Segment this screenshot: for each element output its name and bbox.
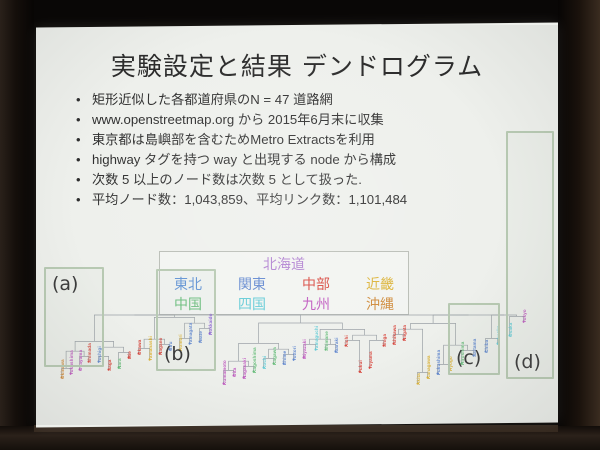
dendrogram-leaf: Shiga (382, 334, 387, 347)
bullet-text: www.openstreetmap.org から 2015年6月末に収集 (92, 111, 526, 129)
dendrogram-group-label-a: (a) (52, 273, 78, 295)
dendrogram-leaf: Nagasaki (242, 358, 247, 379)
bullet-list: • 矩形近似した各都道府県のN = 47 道路網 • www.openstree… (76, 91, 526, 211)
legend-item-hokkaido: 北海道 (261, 255, 307, 275)
legend-item-shikoku: 四国 (229, 295, 275, 315)
bullet-text: 次数 5 以上のノード数は次数 5 として扱った. (92, 171, 526, 189)
legend-item-kinki: 近畿 (357, 275, 403, 295)
bullet-marker: • (76, 191, 92, 209)
dendrogram-leaf: Aichi (344, 335, 349, 347)
legend-item-okinawa: 沖縄 (357, 295, 403, 315)
legend-item-chubu: 中部 (293, 275, 339, 295)
bullet-item: • highway タグを持つ way と出現する node から構成 (76, 151, 526, 169)
dendrogram-link (353, 335, 377, 340)
dendrogram-leaf: Toyama (368, 351, 373, 369)
dendrogram-leaf: Ishikawa (392, 325, 397, 345)
dendrogram-leaf: Ehime (282, 351, 287, 365)
dendrogram-group-box-d (506, 131, 554, 379)
bullet-marker: • (76, 111, 92, 129)
dendrogram-leaf: Kochi (262, 356, 267, 369)
slide-surface: 実験設定と結果 デンドログラム • 矩形近似した各都道府県のN = 47 道路網… (36, 22, 558, 427)
dendrogram-link (259, 323, 343, 343)
bullet-text: 東京都は島嶼部を含むためMetro Extractsを利用 (92, 131, 526, 149)
dendrogram-leaf: Mie (127, 351, 132, 359)
room-frame-top (0, 0, 600, 22)
dendrogram-leaf: Saga (107, 360, 112, 371)
dendrogram-leaf: Kagawa (272, 347, 277, 365)
bullet-marker: • (76, 91, 92, 109)
room-frame-left (0, 0, 34, 450)
dendrogram-chart: OkinawaTokushimaOkayamaShimadaTochigiSag… (36, 313, 558, 425)
bullet-item: • 矩形近似した各都道府県のN = 47 道路網 (76, 91, 526, 109)
dendrogram-group-label-b: (b) (164, 343, 191, 365)
room-frame-right (558, 0, 600, 450)
dendrogram-group-label-d: (d) (514, 351, 541, 373)
dendrogram-leaf: Yamanashi (148, 336, 153, 361)
bullet-item: • 東京都は島嶼部を含むためMetro Extractsを利用 (76, 131, 526, 149)
dendrogram-group-label-c: (c) (456, 347, 481, 369)
dendrogram-leaf: Tottori (292, 346, 297, 361)
bullet-item: • www.openstreetmap.org から 2015年6月末に収集 (76, 111, 526, 129)
bullet-marker: • (76, 151, 92, 169)
bullet-item: • 次数 5 以上のノード数は次数 5 として扱った. (76, 171, 526, 189)
dendrogram-leaf: Kagoshima (252, 347, 257, 373)
bullet-item: • 平均ノード数：1,043,859、平均リンク数：1,101,484 (76, 191, 526, 209)
legend-item-kyushu: 九州 (293, 295, 339, 315)
dendrogram-leaf: Niigata (402, 325, 407, 341)
dendrogram-leaf: Ibaraki (334, 337, 339, 353)
projected-slide-photo: 実験設定と結果 デンドログラム • 矩形近似した各都道府県のN = 47 道路網… (0, 0, 600, 450)
dendrogram-leaf: Kanagawa (426, 355, 431, 379)
slide-title: 実験設定と結果 デンドログラム (36, 47, 558, 83)
bullet-marker: • (76, 171, 92, 189)
dendrogram-leaf: Kumamoto (222, 360, 227, 385)
bullet-text: 矩形近似した各都道府県のN = 47 道路網 (92, 91, 526, 109)
dendrogram-leaf: Okawa (137, 340, 142, 355)
dendrogram-leaf: Yamaguchi (314, 326, 319, 351)
dendrogram-leaf: Fukushima (436, 350, 441, 375)
dendrogram-leaf: Fukui (358, 360, 363, 373)
dendrogram-leaf: Oita (232, 368, 237, 377)
dendrogram-link (104, 347, 124, 356)
bullet-marker: • (76, 131, 92, 149)
dendrogram-leaf: Miyazaki (302, 339, 307, 359)
dendrogram-leaf: Nara (117, 358, 122, 369)
dendrogram-leaf: Shimane (324, 331, 329, 351)
bullet-text: highway タグを持つ way と出現する node から構成 (92, 151, 526, 169)
bullet-text: 平均ノード数：1,043,859、平均リンク数：1,101,484 (92, 191, 526, 209)
dendrogram-leaf: Akita (416, 373, 421, 385)
legend-item-kanto: 関東 (229, 275, 275, 295)
